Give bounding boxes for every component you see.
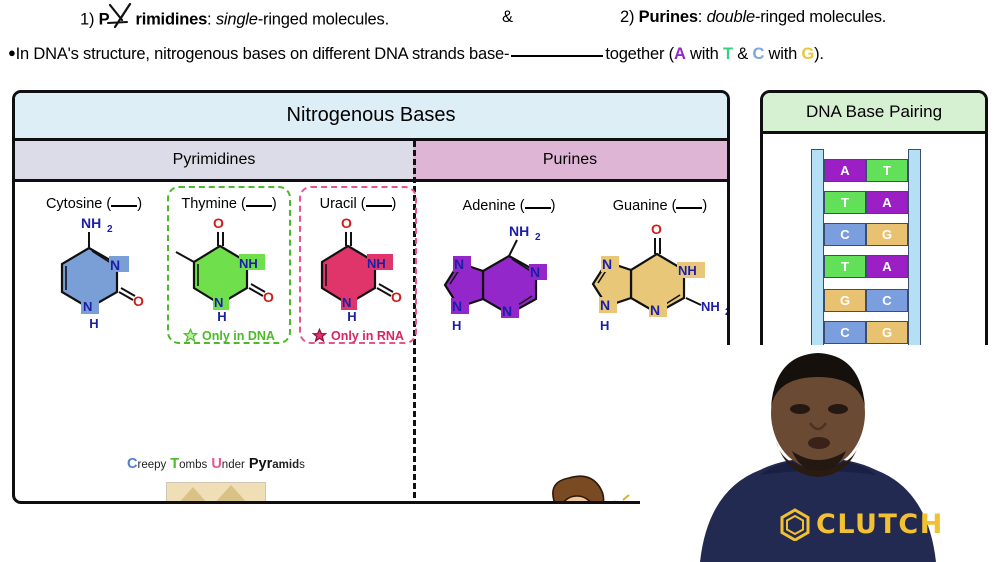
sentence-end: ). (814, 45, 824, 63)
svg-text:2: 2 (535, 232, 541, 243)
clutch-hexagon-icon (778, 507, 812, 541)
letter-a: A (674, 45, 686, 63)
uracil-name: Uracil (320, 196, 357, 212)
item-number-1: 1) (80, 11, 94, 29)
amp-2: & (733, 45, 753, 63)
guanine-hydrogen: H (600, 318, 730, 333)
base-right: A (866, 255, 908, 278)
mnemonic-t: T (170, 456, 179, 472)
base-right: A (866, 191, 908, 214)
dna-ladder-diagram: A T T A C G T A G C C G (811, 149, 921, 354)
base-pairing-sentence: In DNA's structure, nitrogenous bases on… (16, 45, 510, 63)
with-1: with (686, 45, 723, 63)
cytosine-label: Cytosine () (29, 196, 159, 212)
colon-1: : (207, 11, 211, 29)
svg-text:N: N (110, 257, 120, 273)
ladder-rung: T A (824, 191, 908, 214)
pyrimidine-statement: 1) P rimidines: single-ringed molecules. (80, 8, 389, 30)
ampersand-separator: & (502, 8, 513, 27)
cytosine-blank (111, 196, 137, 207)
uracil-only-rna-note: Only in RNA (305, 328, 411, 343)
adenine-hydrogen: H (452, 318, 579, 333)
guanine-blank (676, 198, 702, 209)
handwritten-y-annotation (109, 8, 135, 25)
letter-t: T (723, 45, 733, 63)
svg-text:O: O (213, 215, 224, 231)
thymine-label: Thymine () (173, 196, 285, 212)
ladder-rung: T A (824, 255, 908, 278)
column-header-pyrimidines: Pyrimidines (15, 141, 413, 179)
mnemonic-c-rest: reepy (137, 459, 166, 471)
purine-tail: -ringed molecules. (755, 8, 886, 26)
base-left: G (824, 289, 866, 312)
ladder-rung: G C (824, 289, 908, 312)
svg-text:N: N (530, 264, 540, 280)
bullet-icon: ● (8, 45, 16, 60)
guanine-name: Guanine (613, 198, 668, 214)
molecule-adenine: Adenine () NH 2 N N N N H (439, 198, 579, 333)
svg-text:N: N (454, 256, 464, 272)
mnemonic-u-rest: nder (222, 459, 245, 471)
item-number-2: 2) (620, 8, 634, 26)
uracil-structure: O NH O N (305, 212, 411, 312)
adenine-name: Adenine (463, 198, 516, 214)
cytosine-hydrogen: H (29, 316, 159, 331)
star-icon (183, 328, 198, 343)
cytosine-structure: NH 2 N O N (29, 212, 159, 317)
uracil-note-text: Only in RNA (331, 329, 404, 343)
svg-text:2: 2 (107, 224, 113, 235)
svg-text:N: N (502, 303, 512, 319)
with-2: with (764, 45, 801, 63)
svg-text:N: N (83, 299, 92, 314)
mnemonic-c: C (127, 456, 137, 472)
svg-text:O: O (263, 289, 274, 305)
svg-text:N: N (214, 295, 223, 310)
svg-text:NH: NH (239, 256, 258, 271)
base-right: T (866, 159, 908, 182)
note-line-2: ●In DNA's structure, nitrogenous bases o… (8, 44, 998, 64)
pyrimidine-tail: -ringed molecules. (258, 11, 389, 29)
letter-c: C (752, 45, 764, 63)
table-title: Nitrogenous Bases (15, 93, 727, 141)
adenine-label: Adenine () (439, 198, 579, 214)
column-header-purines: Purines (413, 141, 727, 179)
svg-text:O: O (391, 289, 402, 305)
purine-statement: 2) Purines: double-ringed molecules. (620, 8, 886, 27)
pairing-card-title: DNA Base Pairing (763, 93, 985, 134)
svg-text:NH: NH (678, 263, 697, 278)
base-right: G (866, 223, 908, 246)
nitrogenous-bases-table: Nitrogenous Bases Pyrimidines Purines Cy… (12, 90, 730, 504)
base-left: C (824, 321, 866, 344)
colon-2: : (698, 8, 702, 26)
thymine-only-dna-note: Only in DNA (173, 328, 285, 343)
thymine-note-text: Only in DNA (202, 329, 275, 343)
adenine-structure: NH 2 N N N N (439, 214, 579, 319)
molecule-cytosine: Cytosine () NH 2 N O N H (29, 196, 159, 331)
svg-text:2: 2 (725, 307, 730, 318)
ladder-rung: C G (824, 223, 908, 246)
mnemonic-u: U (211, 456, 221, 472)
purine-term: Purines (639, 8, 698, 26)
base-right: C (866, 289, 908, 312)
single-italic: single (216, 11, 258, 29)
pyrimidine-term-rest: rimidines (135, 11, 207, 29)
svg-text:N: N (602, 256, 612, 272)
thymine-name: Thymine (181, 196, 237, 212)
guanine-label: Guanine () (585, 198, 730, 214)
svg-text:O: O (651, 221, 662, 237)
mnemonic-pyr: Pyr (249, 456, 272, 472)
base-right: G (866, 321, 908, 344)
uracil-blank (366, 196, 392, 207)
cytosine-name: Cytosine (46, 196, 102, 212)
svg-text:N: N (452, 298, 462, 314)
instructor-webcam: CLUTCH (640, 345, 1000, 562)
fill-in-blank (511, 44, 603, 57)
molecule-guanine: Guanine () O NH N N N NH (585, 198, 730, 333)
svg-text:O: O (133, 293, 144, 309)
thymine-structure: O NH O N (173, 212, 285, 312)
molecule-thymine: Thymine () O NH O N H (173, 196, 285, 343)
brand-label: CLUTCH (816, 509, 944, 540)
svg-text:NH: NH (81, 215, 101, 231)
svg-text:N: N (600, 297, 610, 313)
svg-text:O: O (341, 215, 352, 231)
mnemonic-pyr-rest: amid (272, 459, 299, 471)
base-left: C (824, 223, 866, 246)
dna-backbone-left (811, 149, 824, 354)
table-column-headers: Pyrimidines Purines (15, 141, 727, 182)
molecule-uracil: Uracil () O NH O N H (305, 196, 411, 343)
egyptian-tomb-image (166, 482, 266, 504)
base-left: T (824, 255, 866, 278)
svg-text:NH: NH (509, 223, 529, 239)
mnemonic-t-rest: ombs (179, 459, 207, 471)
uracil-label: Uracil () (305, 196, 411, 212)
dna-backbone-right (908, 149, 921, 354)
letter-g: G (801, 45, 814, 63)
sentence-together: together ( (605, 45, 674, 63)
svg-text:NH: NH (701, 299, 720, 314)
mnemonic-pyr-end: s (299, 459, 305, 471)
double-italic: double (707, 8, 755, 26)
svg-text:NH: NH (367, 256, 386, 271)
pyrimidine-mnemonic: Creepy Tombs Under Pyramids (127, 456, 305, 472)
base-left: T (824, 191, 866, 214)
base-left: A (824, 159, 866, 182)
star-icon (312, 328, 327, 343)
guanine-structure: O NH N N N NH 2 (585, 214, 730, 319)
table-body: Cytosine () NH 2 N O N H (15, 182, 727, 498)
svg-text:N: N (342, 295, 351, 310)
ladder-rung: A T (824, 159, 908, 182)
lecture-notes: 1) P rimidines: single-ringed molecules.… (0, 0, 1000, 84)
adenine-blank (525, 198, 551, 209)
svg-text:N: N (650, 302, 660, 318)
thymine-blank (246, 196, 272, 207)
ladder-rung: C G (824, 321, 908, 344)
